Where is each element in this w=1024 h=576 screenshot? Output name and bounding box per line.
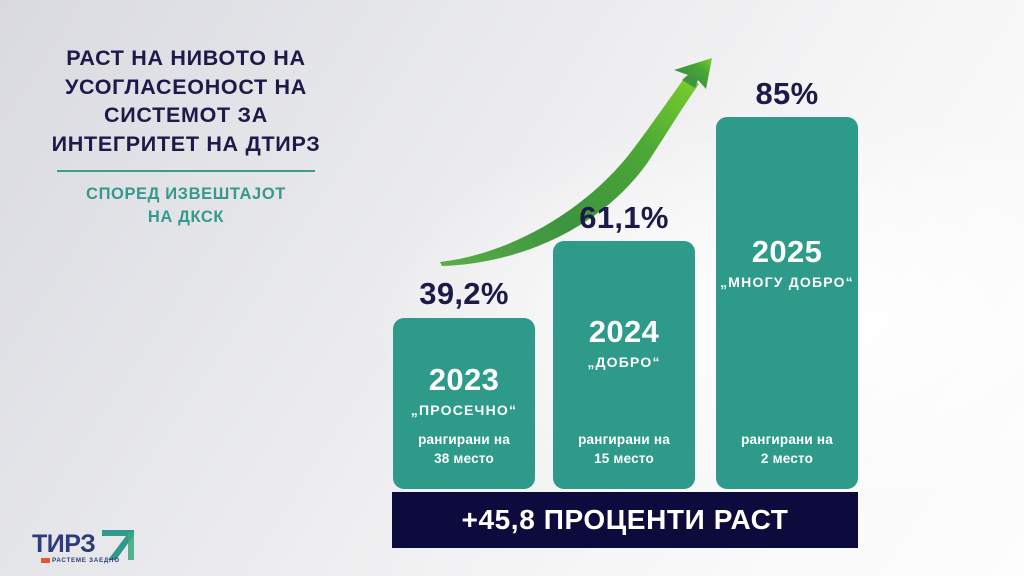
growth-summary-text: +45,8 ПРОЦЕНТИ РАСТ <box>462 504 789 536</box>
page-title-line-4: ИНТЕГРИТЕТ НА ДТИРЗ <box>0 130 372 159</box>
bar-rank-line1-2023: рангирани на <box>418 432 510 447</box>
bar-2025: 2025 „МНОГУ ДОБРО“ рангирани на 2 место <box>716 117 858 489</box>
bar-rank-line2-2023: 38 место <box>434 451 494 466</box>
bar-rank-line1-2024: рангирани на <box>578 432 670 447</box>
logo-accent-dash <box>41 558 50 563</box>
bar-value-label-2025: 85% <box>716 76 858 112</box>
bar-value-label-2024: 61,1% <box>553 200 695 236</box>
bar-year-2025: 2025 <box>716 236 858 269</box>
page-title-line-3: СИСТЕМОТ ЗА <box>0 101 372 130</box>
header-block: РАСТ НА НИВОТО НА УСОГЛАСЕОНОСТ НА СИСТЕ… <box>0 44 372 229</box>
bar-2023: 2023 „ПРОСЕЧНО“ рангирани на 38 место <box>393 318 535 489</box>
page-title-line-1: РАСТ НА НИВОТО НА <box>0 44 372 73</box>
bar-rank-2023: рангирани на 38 место <box>393 430 535 468</box>
tirz-logo: ТИРЗ РАСТЕМЕ ЗАЕДНО <box>30 528 170 570</box>
logo-wordmark: ТИРЗ <box>32 532 95 557</box>
logo-tagline: РАСТЕМЕ ЗАЕДНО <box>52 558 120 564</box>
bar-2024: 2024 „ДОБРО“ рангирани на 15 место <box>553 241 695 489</box>
growth-summary-banner: +45,8 ПРОЦЕНТИ РАСТ <box>392 492 858 548</box>
bar-grade-2024: „ДОБРО“ <box>553 354 695 370</box>
bar-grade-2025: „МНОГУ ДОБРО“ <box>716 274 858 290</box>
title-divider <box>57 170 315 172</box>
page-title-line-2: УСОГЛАСЕОНОСТ НА <box>0 73 372 102</box>
bar-value-label-2023: 39,2% <box>393 276 535 312</box>
bar-rank-line2-2025: 2 место <box>761 451 813 466</box>
bar-rank-line1-2025: рангирани на <box>741 432 833 447</box>
bar-rank-line2-2024: 15 место <box>594 451 654 466</box>
infographic-canvas: РАСТ НА НИВОТО НА УСОГЛАСЕОНОСТ НА СИСТЕ… <box>0 0 1024 576</box>
bar-year-2024: 2024 <box>553 316 695 349</box>
bar-year-2023: 2023 <box>393 364 535 397</box>
bar-grade-2023: „ПРОСЕЧНО“ <box>393 402 535 418</box>
bar-rank-2024: рангирани на 15 место <box>553 430 695 468</box>
page-subtitle-line-2: НА ДКСК <box>0 206 372 229</box>
bar-rank-2025: рангирани на 2 место <box>716 430 858 468</box>
page-subtitle-line-1: СПОРЕД ИЗВЕШТАЈОТ <box>0 183 372 206</box>
